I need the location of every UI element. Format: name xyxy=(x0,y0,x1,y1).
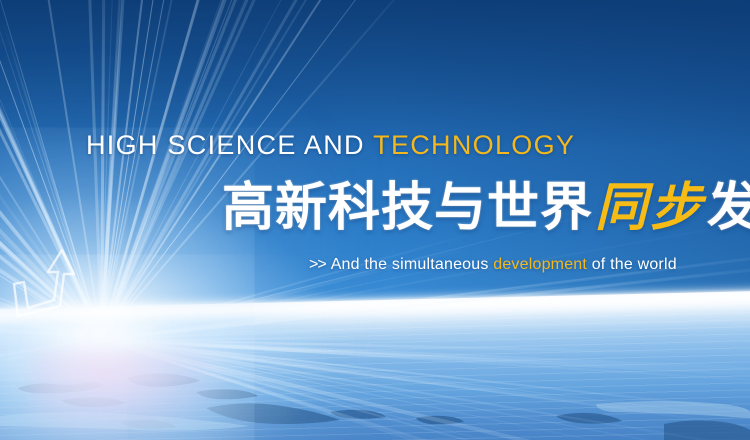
banner-headline: 高新科技与世界同步发展 xyxy=(222,178,750,238)
subline-white-left: And the simultaneous xyxy=(331,256,494,273)
banner-subline: >>And the simultaneous development of th… xyxy=(309,256,677,274)
banner-eyebrow: HIGH SCIENCE AND TECHNOLOGY xyxy=(86,130,575,161)
subline-gold-part: development xyxy=(493,256,587,273)
eyebrow-gold-part: TECHNOLOGY xyxy=(373,130,575,160)
headline-white-left: 高新科技与世界 xyxy=(222,179,593,237)
eyebrow-white-part: HIGH SCIENCE AND xyxy=(86,130,373,160)
banner-text-layer: HIGH SCIENCE AND TECHNOLOGY 高新科技与世界同步发展 … xyxy=(0,0,750,440)
hero-banner: HIGH SCIENCE AND TECHNOLOGY 高新科技与世界同步发展 … xyxy=(0,0,750,440)
subline-white-right: of the world xyxy=(587,256,677,273)
headline-gold-brush: 同步 xyxy=(593,177,707,238)
subline-chevrons: >> xyxy=(309,256,326,273)
headline-white-right: 发展 xyxy=(707,179,750,237)
